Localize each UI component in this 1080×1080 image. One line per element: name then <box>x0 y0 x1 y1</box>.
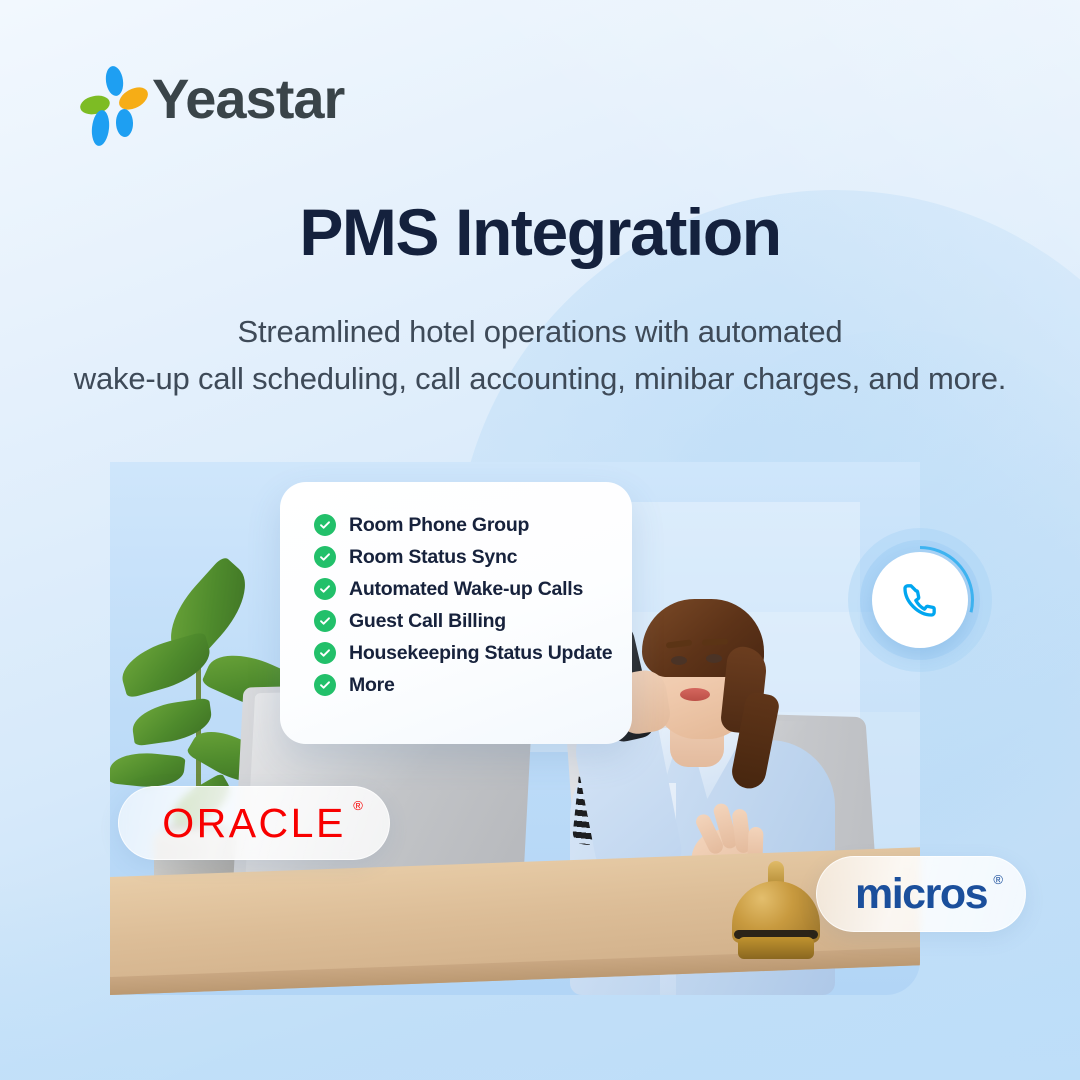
oracle-wordmark: ORACLE <box>162 800 346 846</box>
check-circle-icon <box>314 674 336 696</box>
subtitle-line-1: Streamlined hotel operations with automa… <box>0 308 1080 355</box>
partner-badge-oracle: ORACLE ® <box>118 786 390 860</box>
registered-trademark-icon: ® <box>353 798 363 813</box>
brand-logo: Yeastar <box>80 66 344 132</box>
list-item: Room Phone Group <box>314 509 632 541</box>
list-item: Guest Call Billing <box>314 605 632 637</box>
check-circle-icon <box>314 610 336 632</box>
person-eye-left <box>671 656 687 665</box>
check-circle-icon <box>314 514 336 536</box>
yeastar-flower-logo-icon <box>80 66 138 132</box>
list-item: Housekeeping Status Update <box>314 637 632 669</box>
registered-trademark-icon: ® <box>993 872 1003 887</box>
check-circle-icon <box>314 546 336 568</box>
promo-canvas: Yeastar PMS Integration Streamlined hote… <box>0 0 1080 1080</box>
bell-base <box>738 937 814 959</box>
partner-badge-micros: micros ® <box>816 856 1026 932</box>
oracle-logo-text: ORACLE ® <box>162 800 346 847</box>
list-item: More <box>314 669 632 701</box>
micros-logo-text: micros ® <box>855 870 987 919</box>
page-title: PMS Integration <box>0 196 1080 269</box>
plant-leaf <box>110 749 186 791</box>
list-item: Room Status Sync <box>314 541 632 573</box>
person-eye-right <box>706 654 722 663</box>
subtitle-line-2: wake-up call scheduling, call accounting… <box>0 355 1080 402</box>
logo-petal-top <box>104 65 125 97</box>
page-subtitle: Streamlined hotel operations with automa… <box>0 308 1080 402</box>
phone-badge <box>848 528 992 672</box>
micros-wordmark: micros <box>855 870 987 918</box>
plant-leaf <box>116 631 217 699</box>
feature-label: Automated Wake-up Calls <box>349 578 583 601</box>
list-item: Automated Wake-up Calls <box>314 573 632 605</box>
feature-label: More <box>349 674 395 697</box>
phone-badge-circle <box>872 552 968 648</box>
feature-label: Guest Call Billing <box>349 610 506 633</box>
phone-handset-icon <box>900 580 940 620</box>
feature-label: Room Phone Group <box>349 514 529 537</box>
check-circle-icon <box>314 642 336 664</box>
reception-bell <box>728 853 824 965</box>
feature-label: Room Status Sync <box>349 546 517 569</box>
check-circle-icon <box>314 578 336 600</box>
logo-petal-bottom-right <box>116 109 134 138</box>
feature-label: Housekeeping Status Update <box>349 642 612 665</box>
logo-petal-bottom-left <box>90 109 111 147</box>
brand-name: Yeastar <box>152 71 344 127</box>
feature-list-card: Room Phone Group Room Status Sync Automa… <box>280 482 632 744</box>
person-lips <box>680 688 710 701</box>
